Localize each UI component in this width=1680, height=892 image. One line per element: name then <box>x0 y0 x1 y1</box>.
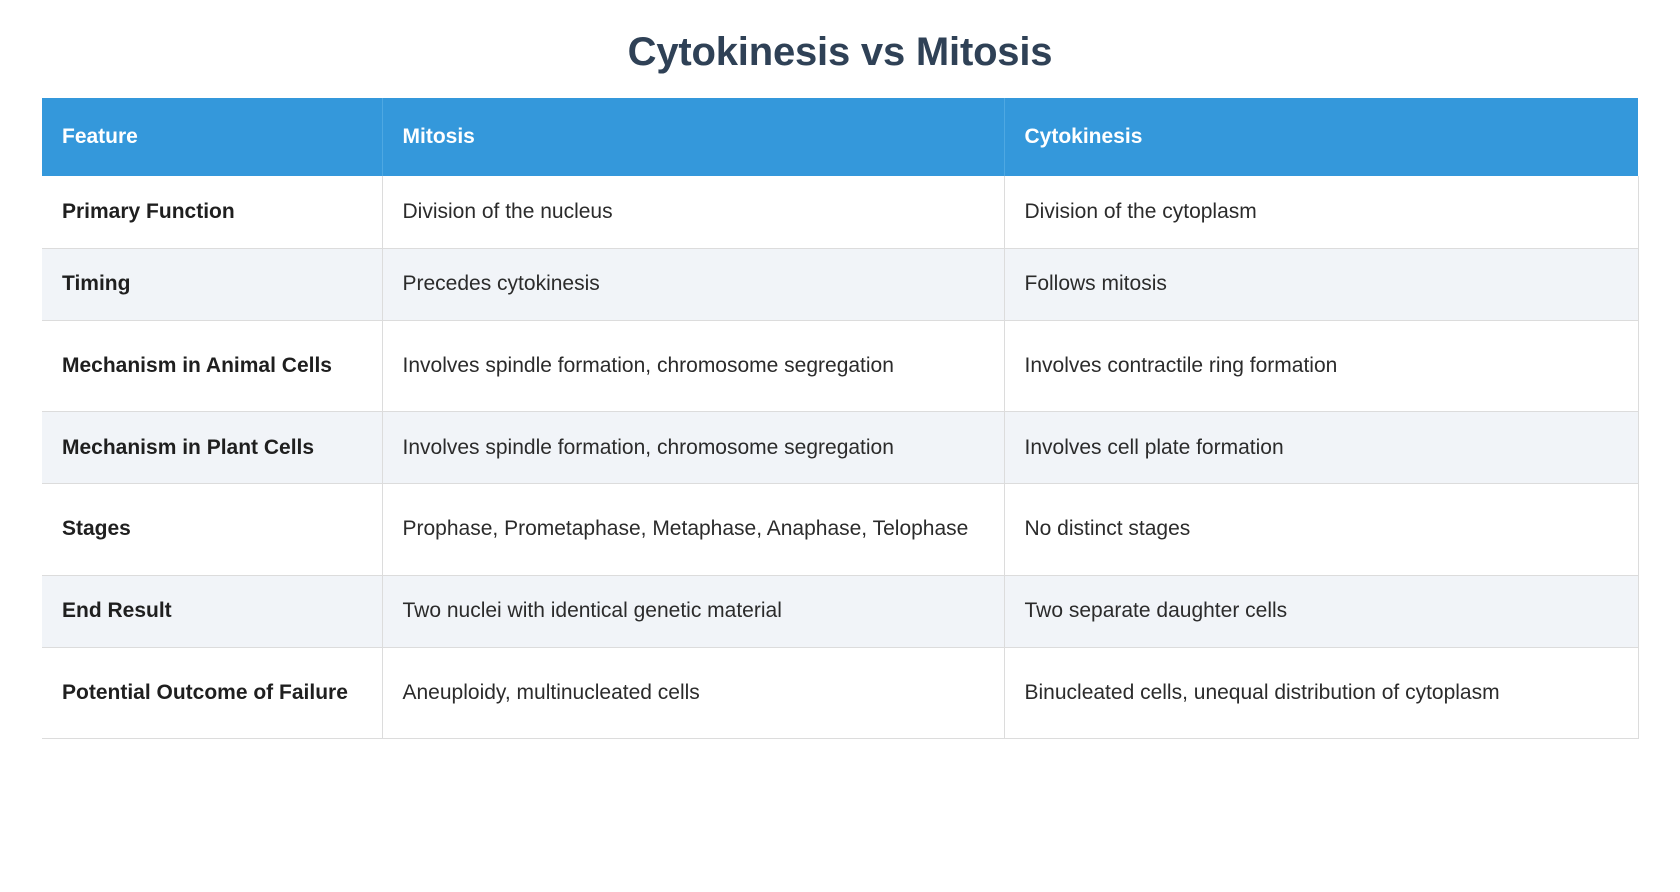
table-row: Mechanism in Animal Cells Involves spind… <box>42 320 1638 411</box>
table-row: Potential Outcome of Failure Aneuploidy,… <box>42 647 1638 738</box>
table-row: Mechanism in Plant Cells Involves spindl… <box>42 412 1638 484</box>
table-row: Primary Function Division of the nucleus… <box>42 176 1638 248</box>
table-row: Timing Precedes cytokinesis Follows mito… <box>42 248 1638 320</box>
column-header-mitosis: Mitosis <box>382 98 1004 176</box>
table-row: Stages Prophase, Prometaphase, Metaphase… <box>42 484 1638 575</box>
column-header-cytokinesis: Cytokinesis <box>1004 98 1638 176</box>
table-header-row: Feature Mitosis Cytokinesis <box>42 98 1638 176</box>
cell-feature: Timing <box>42 248 382 320</box>
table-body: Primary Function Division of the nucleus… <box>42 176 1638 738</box>
cell-feature: Mechanism in Plant Cells <box>42 412 382 484</box>
cell-mitosis: Involves spindle formation, chromosome s… <box>382 320 1004 411</box>
comparison-table-container: Feature Mitosis Cytokinesis Primary Func… <box>42 98 1638 739</box>
cell-feature: Primary Function <box>42 176 382 248</box>
cell-mitosis: Aneuploidy, multinucleated cells <box>382 647 1004 738</box>
cell-cytokinesis: Division of the cytoplasm <box>1004 176 1638 248</box>
cell-mitosis: Involves spindle formation, chromosome s… <box>382 412 1004 484</box>
cell-mitosis: Two nuclei with identical genetic materi… <box>382 575 1004 647</box>
cell-feature: End Result <box>42 575 382 647</box>
cell-cytokinesis: Follows mitosis <box>1004 248 1638 320</box>
page-root: Cytokinesis vs Mitosis Feature Mitosis C… <box>0 0 1680 892</box>
table-header: Feature Mitosis Cytokinesis <box>42 98 1638 176</box>
cell-feature: Mechanism in Animal Cells <box>42 320 382 411</box>
cell-cytokinesis: Involves cell plate formation <box>1004 412 1638 484</box>
cell-mitosis: Precedes cytokinesis <box>382 248 1004 320</box>
cell-mitosis: Division of the nucleus <box>382 176 1004 248</box>
cell-cytokinesis: Involves contractile ring formation <box>1004 320 1638 411</box>
comparison-table: Feature Mitosis Cytokinesis Primary Func… <box>42 98 1639 739</box>
cell-cytokinesis: Binucleated cells, unequal distribution … <box>1004 647 1638 738</box>
cell-cytokinesis: No distinct stages <box>1004 484 1638 575</box>
cell-mitosis: Prophase, Prometaphase, Metaphase, Anaph… <box>382 484 1004 575</box>
cell-cytokinesis: Two separate daughter cells <box>1004 575 1638 647</box>
cell-feature: Potential Outcome of Failure <box>42 647 382 738</box>
page-title: Cytokinesis vs Mitosis <box>0 0 1680 98</box>
cell-feature: Stages <box>42 484 382 575</box>
column-header-feature: Feature <box>42 98 382 176</box>
table-row: End Result Two nuclei with identical gen… <box>42 575 1638 647</box>
